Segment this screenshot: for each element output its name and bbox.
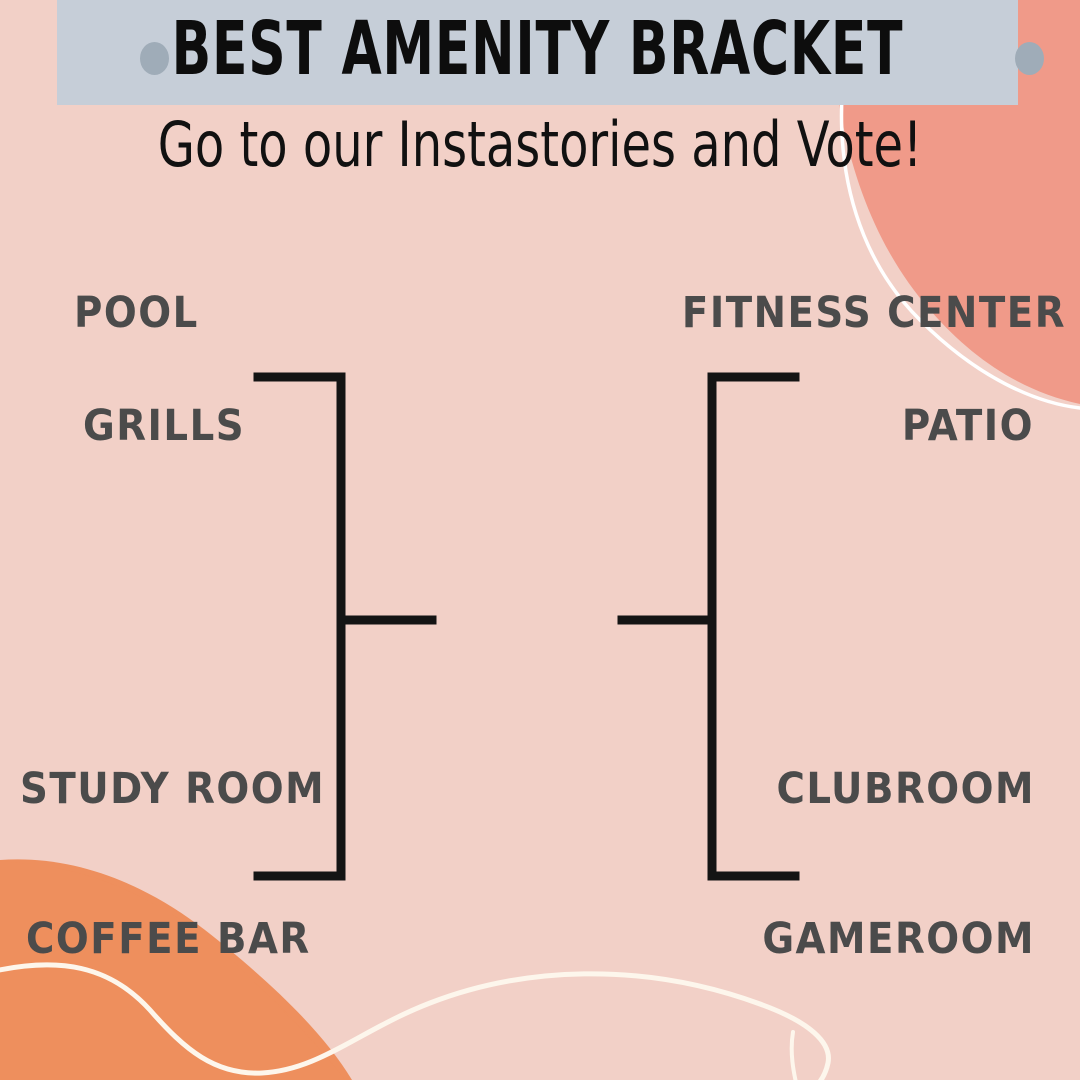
- page-subtitle: Go to our Instastories and Vote!: [76, 110, 1005, 180]
- screw-dot-right-icon: [1015, 42, 1044, 75]
- amenity-label-gameroom[interactable]: GAMEROOM: [762, 916, 1035, 962]
- title-banner: BEST AMENITY BRACKET: [57, 0, 1018, 105]
- amenity-label-study-room[interactable]: STUDY ROOM: [20, 766, 325, 812]
- amenity-label-coffee-bar[interactable]: COFFEE BAR: [26, 916, 311, 962]
- page-title: BEST AMENITY BRACKET: [163, 9, 913, 89]
- amenity-label-grills[interactable]: GRILLS: [83, 403, 245, 449]
- amenity-label-pool[interactable]: POOL: [74, 290, 199, 336]
- amenity-bracket-poster: BEST AMENITY BRACKET Go to our Instastor…: [0, 0, 1080, 1080]
- amenity-label-clubroom[interactable]: CLUBROOM: [777, 766, 1035, 812]
- amenity-label-fitness-center[interactable]: FITNESS CENTER: [682, 290, 1066, 336]
- amenity-label-patio[interactable]: PATIO: [902, 403, 1034, 449]
